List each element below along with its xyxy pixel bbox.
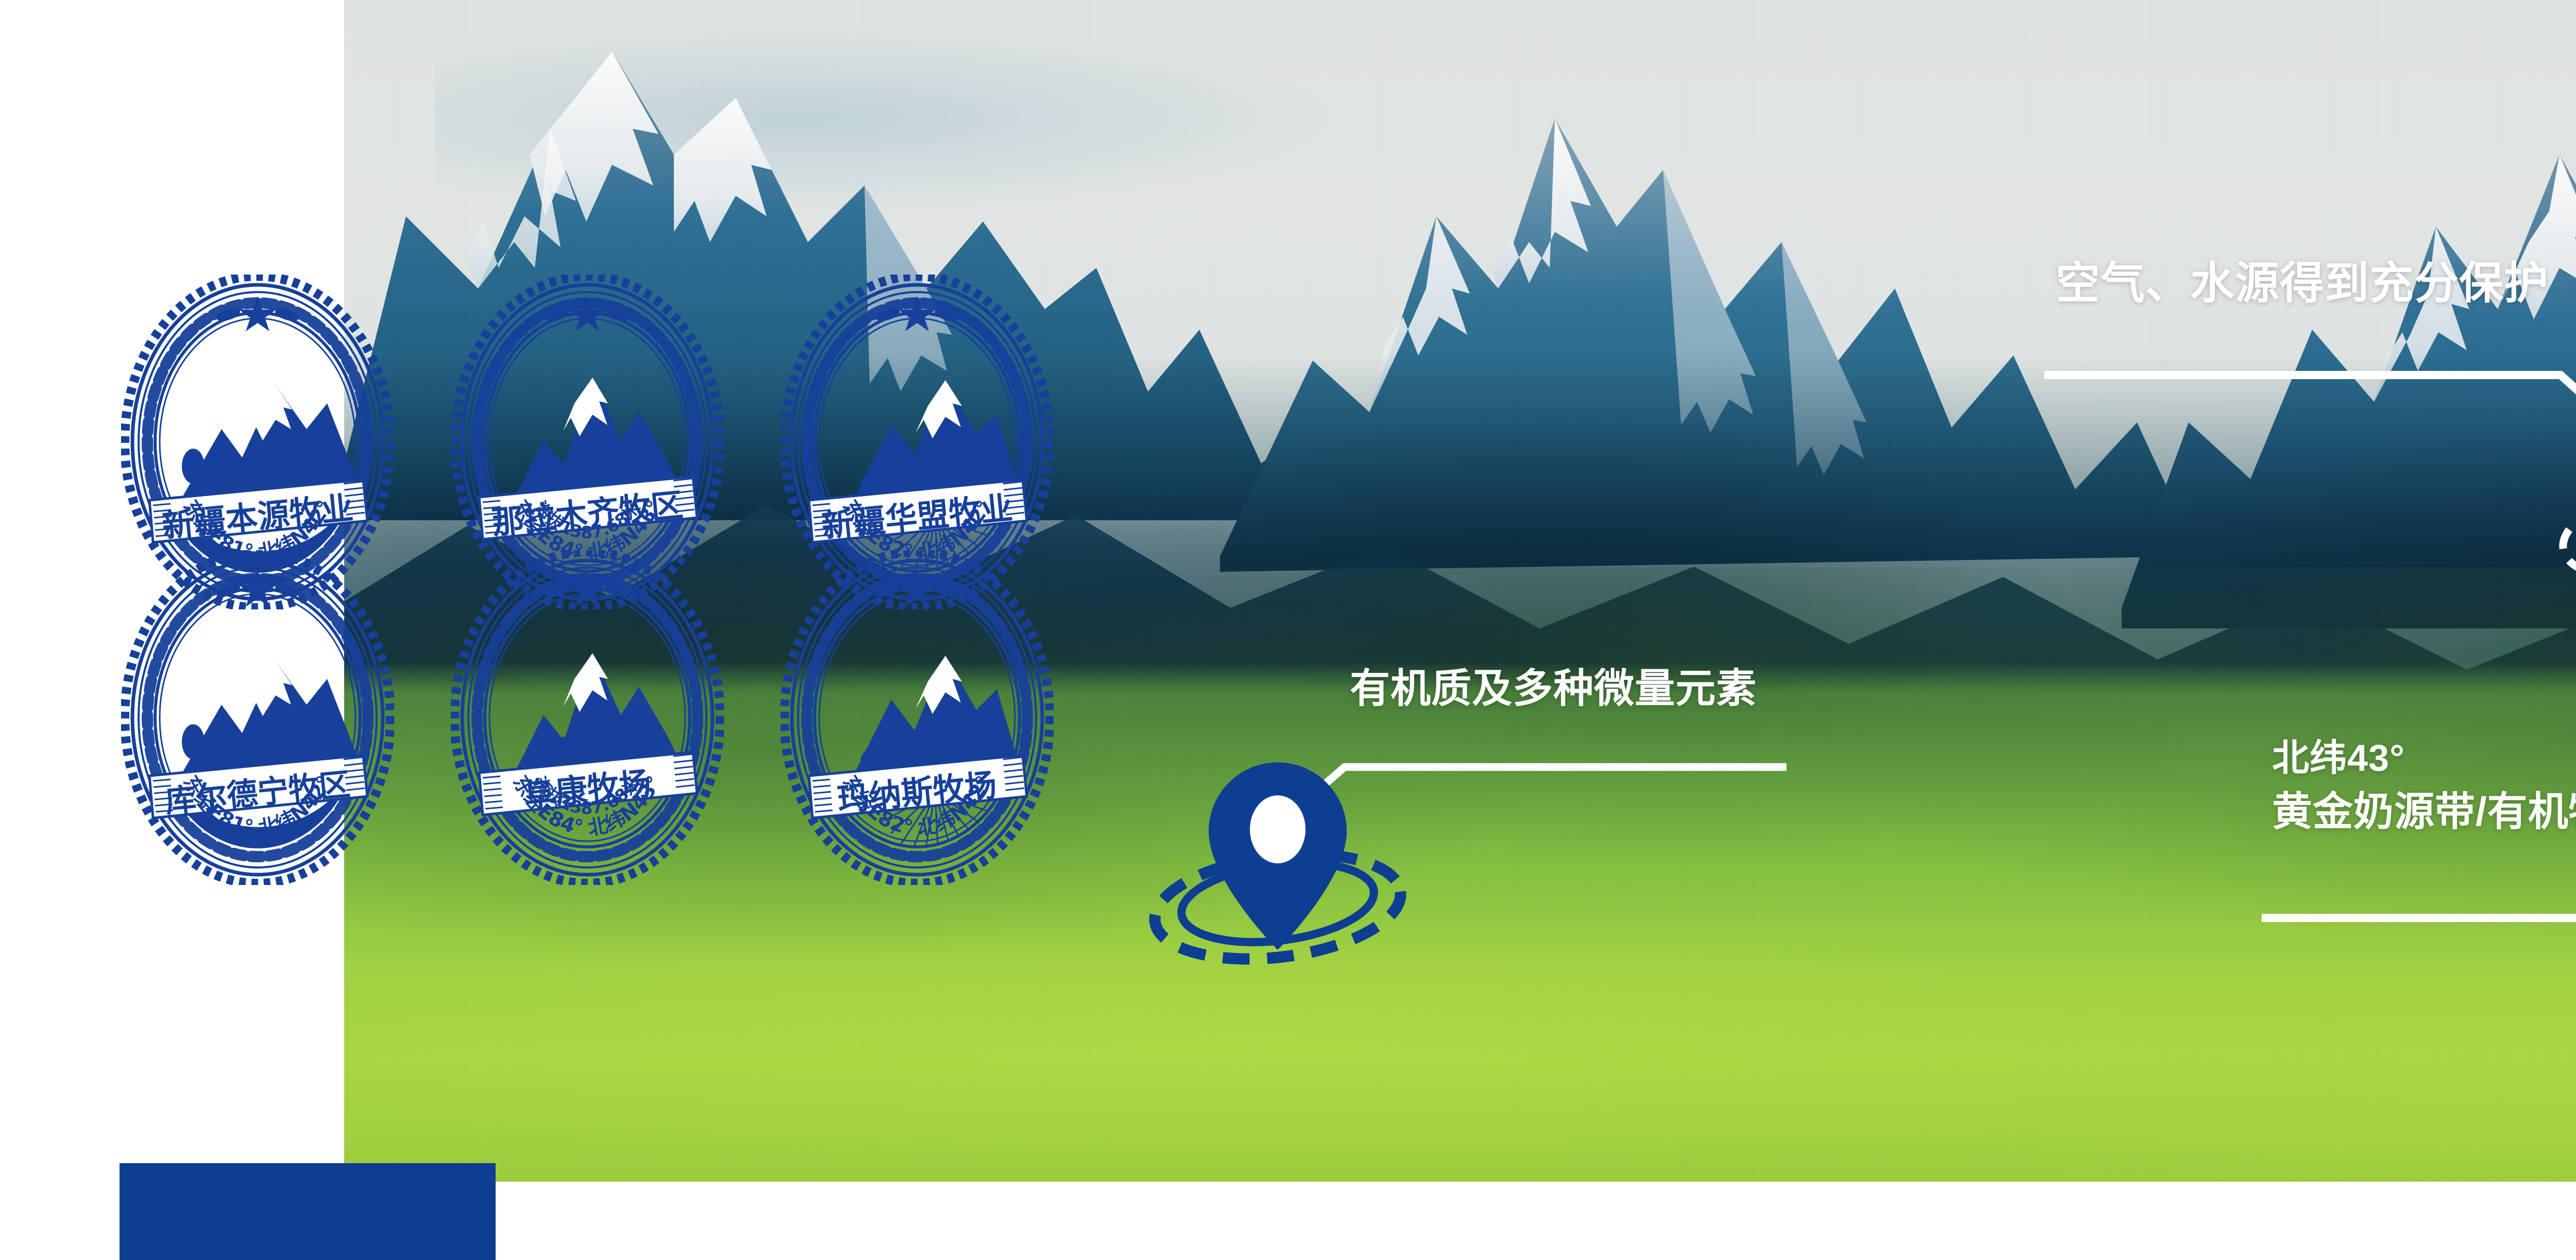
callout-organic-matter[interactable]: 有机质及多种微量元素 <box>1350 665 1757 712</box>
badge-kuerdening[interactable]: 库尔德宁牧区 东经E81° 北纬N42° <box>121 550 394 885</box>
pin-dot <box>1250 795 1306 863</box>
callout-latitude[interactable]: 北纬43° 黄金奶源带/有机牧场 <box>2272 737 2576 835</box>
badge-manasi[interactable]: 玛纳斯牧场 东经E82° 北纬N42° <box>781 550 1054 885</box>
callout-latitude-line2: 黄金奶源带/有机牧场 <box>2272 788 2576 835</box>
pin-halo-dashed <box>2555 468 2576 593</box>
brand-color-block <box>120 1163 496 1260</box>
callout-air-water-connector <box>2045 314 2576 438</box>
callout-organic-matter-label: 有机质及多种微量元素 <box>1350 665 1757 712</box>
map-pin-organic-matter[interactable] <box>1123 752 1443 994</box>
callout-air-water[interactable]: 空气、水源得到充分保护 <box>2056 258 2549 310</box>
callout-latitude-connector <box>2262 855 2576 989</box>
callout-latitude-line1: 北纬43° <box>2272 737 2576 780</box>
farm-badge-grid: 新疆本源牧业 东经E81° 北纬N42° <box>121 275 1048 882</box>
badge-fukang[interactable]: 阜康牧场 海拔1387.68米 东经E84° 北纬N43° <box>451 550 724 885</box>
poster-canvas: 新疆本源牧业 东经E81° 北纬N42° <box>0 0 2576 1260</box>
callout-air-water-label: 空气、水源得到充分保护 <box>2056 258 2549 310</box>
map-pin-air-water[interactable] <box>2540 376 2576 592</box>
